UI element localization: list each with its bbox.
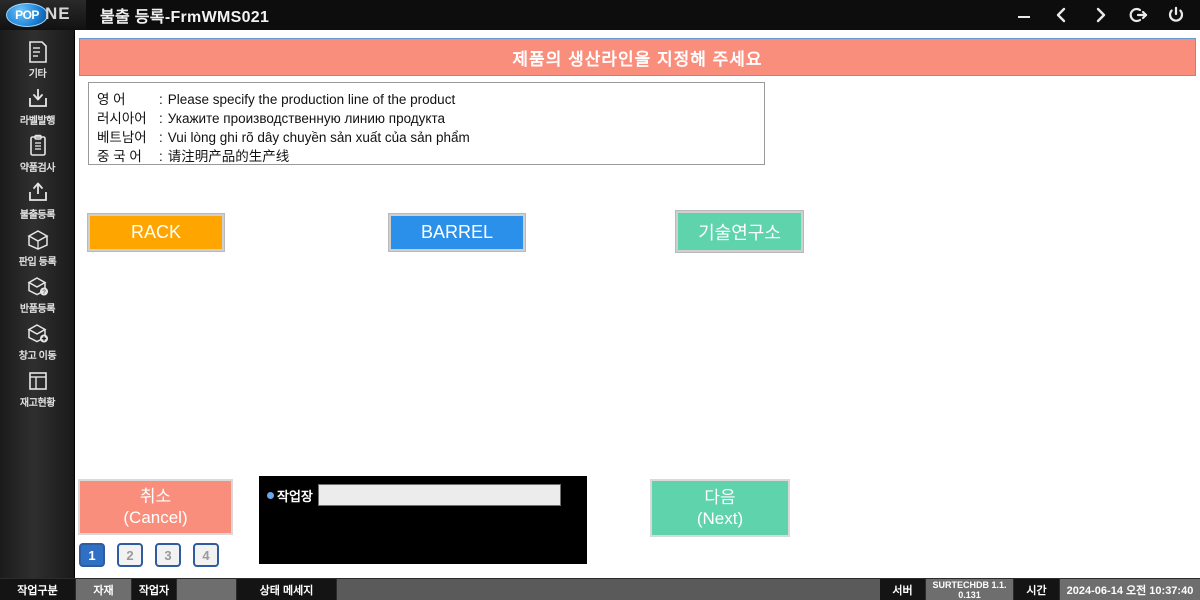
status-work-type-label: 작업구분 (0, 579, 76, 600)
app-logo: POP NE (0, 0, 86, 30)
translation-text: Vui lòng ghi rõ dây chuyền sản xuất của … (168, 130, 470, 145)
step-button-3[interactable]: 3 (155, 543, 181, 567)
translation-row: 베트남어 : Vui lòng ghi rõ dây chuyền sản xu… (97, 126, 764, 145)
box-return-icon: ? (25, 275, 51, 299)
instruction-banner: 제품의 생산라인을 지정해 주세요 (79, 38, 1196, 76)
status-bar: 작업구분 자재 작업자 상태 메세지 서버 SURTECHDB 1.1. 0.1… (0, 578, 1200, 600)
cancel-button[interactable]: 취소 (Cancel) (78, 479, 233, 535)
translation-separator: : (159, 149, 168, 164)
sidebar: 기타 라벨발행 약품검사 (0, 30, 75, 578)
application-window: POP NE 불출 등록-FrmWMS021 (0, 0, 1200, 600)
translation-text: 请注明产品的生产线 (168, 145, 290, 165)
sidebar-item-label: 반품등록 (20, 300, 55, 315)
sidebar-item-etc[interactable]: 기타 (0, 36, 75, 83)
inventory-icon (25, 369, 51, 393)
status-time-label: 시간 (1014, 579, 1060, 600)
sidebar-item-label: 불출등록 (20, 206, 55, 221)
upload-tray-icon (25, 181, 51, 205)
status-server-label: 서버 (880, 579, 926, 600)
minimize-icon (1015, 6, 1033, 24)
sidebar-item-issue-register[interactable]: 불출등록 (0, 177, 75, 224)
window-controls (1014, 5, 1200, 25)
workplace-row: 작업장 (267, 482, 587, 508)
title-bar: POP NE 불출 등록-FrmWMS021 (0, 0, 1200, 30)
sidebar-item-label: 라벨발행 (20, 112, 55, 127)
workplace-input[interactable] (318, 484, 561, 506)
download-tray-icon (25, 87, 51, 111)
next-step-button[interactable]: 다음 (Next) (650, 479, 790, 537)
sidebar-item-receipt-register[interactable]: 판입 등록 (0, 224, 75, 271)
translation-separator: : (159, 92, 168, 107)
workplace-panel: 작업장 (259, 476, 587, 564)
previous-button[interactable] (1052, 5, 1072, 25)
translation-text: Укажите производственную линию продукта (168, 111, 445, 126)
status-db-name: SURTECHDB 1.1. (932, 580, 1006, 590)
sidebar-item-drug-inspection[interactable]: 약품검사 (0, 130, 75, 177)
next-button-label-ko: 다음 (704, 487, 735, 508)
sidebar-item-label: 창고 이동 (19, 347, 57, 362)
sidebar-item-label: 약품검사 (20, 159, 55, 174)
chevron-left-icon (1053, 6, 1071, 24)
clipboard-icon (25, 134, 51, 158)
translation-separator: : (159, 130, 168, 145)
status-time-value: 2024-06-14 오전 10:37:40 (1060, 579, 1200, 600)
next-button-label-en: (Next) (697, 508, 743, 529)
minimize-button[interactable] (1014, 5, 1034, 25)
status-material-value: 자재 (76, 579, 132, 600)
translation-language: 러시아어 (97, 107, 159, 127)
production-line-button-barrel[interactable]: BARREL (389, 214, 525, 251)
translation-language: 베트남어 (97, 126, 159, 146)
step-button-4[interactable]: 4 (193, 543, 219, 567)
translation-language: 중 국 어 (97, 145, 159, 165)
box-icon (25, 228, 51, 252)
sidebar-item-return-register[interactable]: ? 반품등록 (0, 271, 75, 318)
sidebar-item-inventory-status[interactable]: 재고현황 (0, 365, 75, 412)
status-db-version: 0.131 (958, 590, 981, 600)
status-worker-value (177, 579, 237, 600)
sidebar-item-label-issue[interactable]: 라벨발행 (0, 83, 75, 130)
translation-language: 영 어 (97, 88, 159, 108)
box-move-icon (25, 322, 51, 346)
main-content: 제품의 생산라인을 지정해 주세요 영 어 : Please specify t… (75, 30, 1200, 578)
next-button[interactable] (1090, 5, 1110, 25)
translation-box: 영 어 : Please specify the production line… (88, 82, 765, 165)
logout-icon (1128, 6, 1148, 24)
status-detail-message-value (337, 579, 880, 600)
chevron-right-icon (1091, 6, 1109, 24)
production-line-button-rack[interactable]: RACK (88, 214, 224, 251)
translation-text: Please specify the production line of th… (168, 92, 455, 107)
status-db-value: SURTECHDB 1.1. 0.131 (926, 579, 1014, 600)
logout-button[interactable] (1128, 5, 1148, 25)
window-title: 불출 등록-FrmWMS021 (100, 3, 269, 27)
cancel-button-label-ko: 취소 (140, 486, 171, 507)
power-icon (1167, 6, 1185, 24)
status-worker-label: 작업자 (132, 579, 177, 600)
translation-row: 영 어 : Please specify the production line… (97, 88, 764, 107)
translation-row: 러시아어 : Укажите производственную линию пр… (97, 107, 764, 126)
cancel-button-label-en: (Cancel) (123, 507, 187, 528)
app-logo-text: NE (45, 4, 71, 24)
bullet-icon (267, 492, 274, 499)
production-line-button-tech-research[interactable]: 기술연구소 (676, 211, 803, 252)
sidebar-item-warehouse-move[interactable]: 창고 이동 (0, 318, 75, 365)
pop-logo-icon: POP (6, 3, 48, 27)
translation-row: 중 국 어 : 请注明产品的生产线 (97, 145, 764, 164)
document-icon (25, 40, 51, 64)
sidebar-item-label: 재고현황 (20, 394, 55, 409)
step-button-2[interactable]: 2 (117, 543, 143, 567)
translation-separator: : (159, 111, 168, 126)
sidebar-item-label: 기타 (29, 65, 47, 80)
step-button-1[interactable]: 1 (79, 543, 105, 567)
workplace-label: 작업장 (277, 486, 313, 505)
step-indicator: 1 2 3 4 (79, 543, 219, 567)
status-detail-message-label: 상태 메세지 (237, 579, 337, 600)
power-button[interactable] (1166, 5, 1186, 25)
sidebar-item-label: 판입 등록 (19, 253, 57, 268)
